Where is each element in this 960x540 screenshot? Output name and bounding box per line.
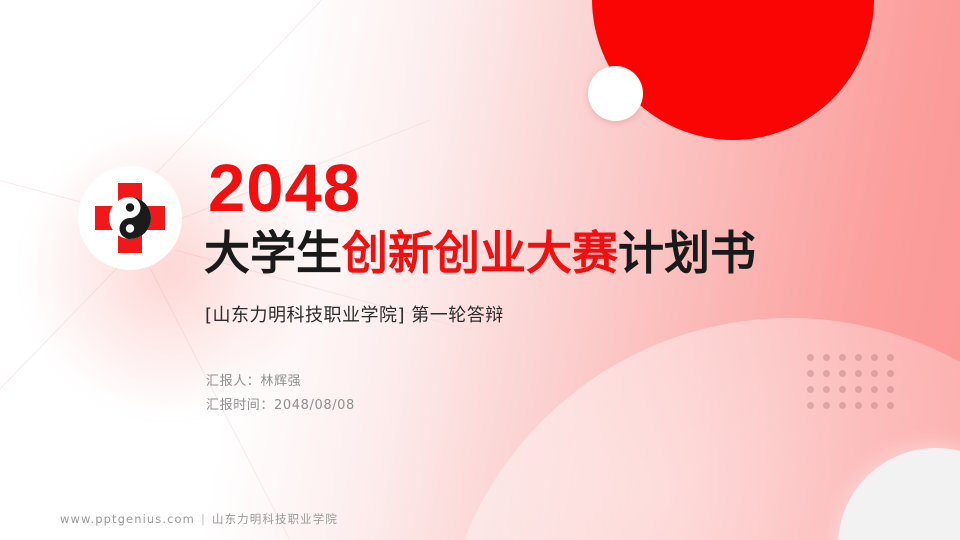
date-line: 汇报时间：2048/08/08 [206,394,355,418]
year-title: 2048 [208,155,361,222]
red-cross-yinyang-icon [92,180,168,256]
headline-tail: 计划书 [618,226,756,280]
headline-emphasis: 创新创业大赛 [342,226,618,280]
headline-lead: 大学生 [204,226,342,280]
presenter-line: 汇报人：林辉强 [206,370,355,394]
dot-grid-decoration [807,354,903,418]
presentation-slide: 2048 大学生创新创业大赛计划书 [山东力明科技职业学院] 第一轮答辩 汇报人… [0,0,960,540]
white-circle-decoration [588,66,643,121]
presentation-meta: 汇报人：林辉强 汇报时间：2048/08/08 [206,370,355,418]
footer-separator: | [201,512,206,526]
subtitle: [山东力明科技职业学院] 第一轮答辩 [205,301,504,327]
main-headline: 大学生创新创业大赛计划书 [204,228,756,280]
footer-organization: 山东力明科技职业学院 [212,512,338,526]
footer-website: www.pptgenius.com [60,512,195,526]
slide-footer: www.pptgenius.com|山东力明科技职业学院 [60,511,338,527]
college-logo [78,166,182,270]
